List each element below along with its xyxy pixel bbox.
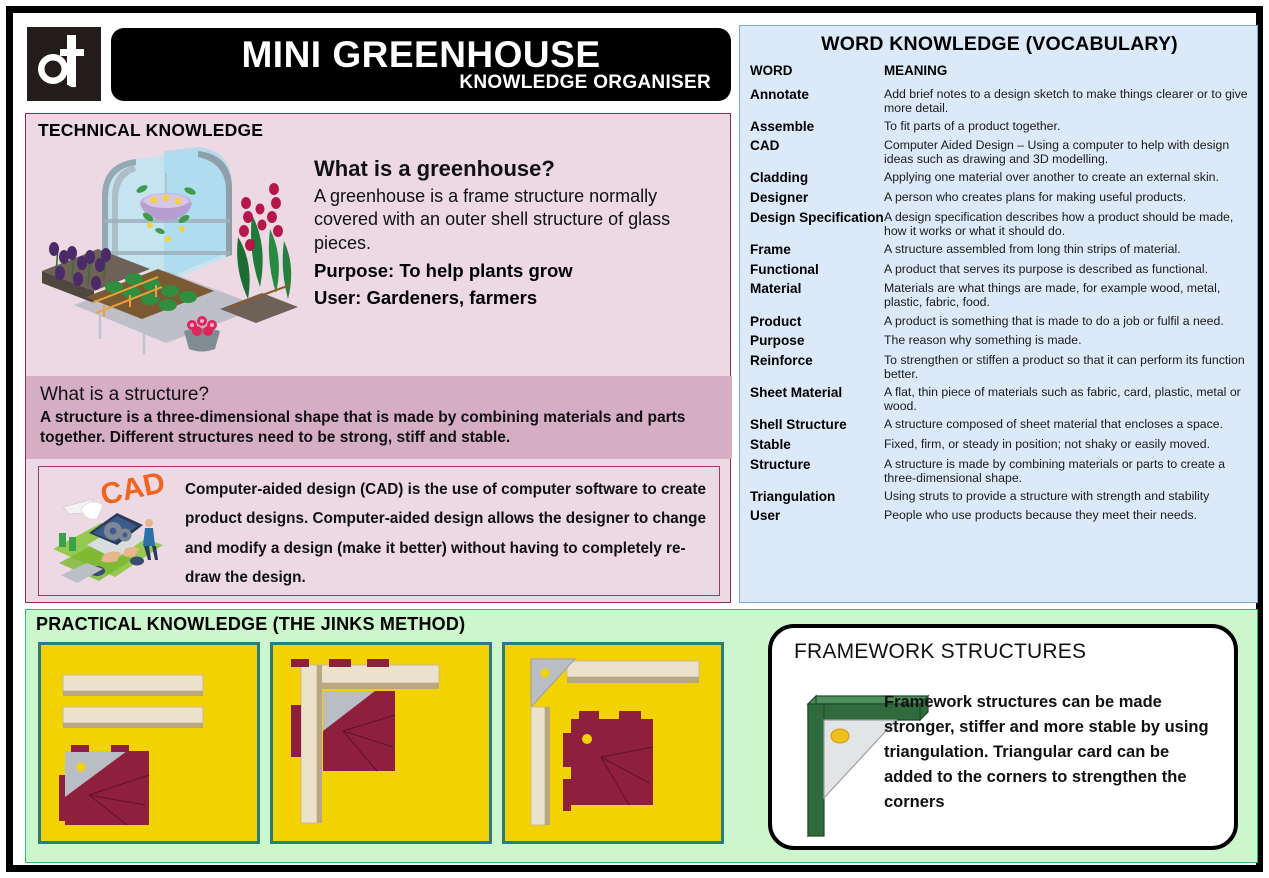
practical-knowledge-panel: PRACTICAL KNOWLEDGE (THE JINKS METHOD) [25, 609, 1258, 863]
greenhouse-user: User: Gardeners, farmers [314, 286, 720, 310]
table-row: TriangulationUsing struts to provide a s… [750, 487, 1249, 507]
table-row: FunctionalA product that serves its purp… [750, 260, 1249, 280]
vocab-meaning: A structure composed of sheet material t… [884, 415, 1249, 435]
structure-body: A structure is a three-dimensional shape… [40, 408, 718, 449]
technical-knowledge-panel: TECHNICAL KNOWLEDGE [25, 113, 731, 603]
vocab-meaning: Materials are what things are made, for … [884, 279, 1249, 311]
jinks-method-photos [38, 642, 724, 844]
structure-heading: What is a structure? [40, 383, 718, 407]
dt-logo [27, 27, 101, 101]
vocab-word: User [750, 506, 884, 526]
framework-structures-title: FRAMEWORK STRUCTURES [772, 628, 1234, 664]
table-row: Shell StructureA structure composed of s… [750, 415, 1249, 435]
vocab-word: CAD [750, 136, 884, 168]
vocab-word: Sheet Material [750, 383, 884, 415]
poster-frame: MINI GREENHOUSE KNOWLEDGE ORGANISER TECH… [6, 6, 1263, 872]
table-row: StableFixed, firm, or steady in position… [750, 435, 1249, 455]
cad-illustration: CAD [45, 471, 177, 591]
table-row: UserPeople who use products because they… [750, 506, 1249, 526]
vocab-word: Annotate [750, 85, 884, 117]
vocab-word: Design Specification [750, 208, 884, 240]
column-header-meaning: MEANING [884, 61, 1249, 85]
vocabulary-panel: WORD KNOWLEDGE (VOCABULARY) WORD MEANING… [739, 25, 1258, 603]
greenhouse-body: A greenhouse is a frame structure normal… [314, 185, 720, 256]
table-row: AssembleTo fit parts of a product togeth… [750, 117, 1249, 137]
vocabulary-header-row: WORD MEANING [750, 61, 1249, 85]
title-bar: MINI GREENHOUSE KNOWLEDGE ORGANISER [111, 28, 731, 101]
technical-knowledge-title: TECHNICAL KNOWLEDGE [26, 114, 730, 143]
vocab-meaning: Applying one material over another to cr… [884, 168, 1249, 188]
right-column: WORD KNOWLEDGE (VOCABULARY) WORD MEANING… [739, 25, 1258, 603]
table-row: Design SpecificationA design specificati… [750, 208, 1249, 240]
vocab-word: Functional [750, 260, 884, 280]
framework-structures-body: Framework structures can be made stronge… [884, 690, 1220, 815]
table-row: PurposeThe reason why something is made. [750, 331, 1249, 351]
greenhouse-block: What is a greenhouse? A greenhouse is a … [26, 143, 730, 361]
vocab-word: Purpose [750, 331, 884, 351]
structure-definition-box: What is a structure? A structure is a th… [26, 376, 732, 459]
vocab-meaning: People who use products because they mee… [884, 506, 1249, 526]
vocab-meaning: Fixed, firm, or steady in position; not … [884, 435, 1249, 455]
vocabulary-title: WORD KNOWLEDGE (VOCABULARY) [750, 30, 1249, 61]
table-row: MaterialMaterials are what things are ma… [750, 279, 1249, 311]
greenhouse-text: What is a greenhouse? A greenhouse is a … [314, 155, 720, 310]
vocab-meaning: A product is something that is made to d… [884, 312, 1249, 332]
vocab-word: Material [750, 279, 884, 311]
table-row: ProductA product is something that is ma… [750, 312, 1249, 332]
vocab-word: Cladding [750, 168, 884, 188]
vocab-meaning: Using struts to provide a structure with… [884, 487, 1249, 507]
vocab-meaning: To strengthen or stiffen a product so th… [884, 351, 1249, 383]
vocab-word: Product [750, 312, 884, 332]
vocab-word: Designer [750, 188, 884, 208]
vocab-meaning: Computer Aided Design – Using a computer… [884, 136, 1249, 168]
vocab-meaning: A person who creates plans for making us… [884, 188, 1249, 208]
vocab-meaning: A structure is made by combining materia… [884, 455, 1249, 487]
vocab-word: Shell Structure [750, 415, 884, 435]
vocab-meaning: A design specification describes how a p… [884, 208, 1249, 240]
table-row: FrameA structure assembled from long thi… [750, 240, 1249, 260]
table-row: CladdingApplying one material over anoth… [750, 168, 1249, 188]
vocab-word: Structure [750, 455, 884, 487]
column-header-word: WORD [750, 61, 884, 85]
greenhouse-illustration [34, 145, 302, 359]
table-row: DesignerA person who creates plans for m… [750, 188, 1249, 208]
left-column: MINI GREENHOUSE KNOWLEDGE ORGANISER TECH… [25, 25, 731, 603]
vocab-meaning: To fit parts of a product together. [884, 117, 1249, 137]
knowledge-organiser-poster: MINI GREENHOUSE KNOWLEDGE ORGANISER TECH… [0, 0, 1269, 878]
poster-title: MINI GREENHOUSE [127, 36, 715, 74]
cad-body: Computer-aided design (CAD) is the use o… [185, 475, 711, 592]
vocab-word: Frame [750, 240, 884, 260]
table-row: AnnotateAdd brief notes to a design sket… [750, 85, 1249, 117]
framework-structures-card: FRAMEWORK STRUCTURES Framework structure… [768, 624, 1238, 850]
table-row: Sheet MaterialA flat, thin piece of mate… [750, 383, 1249, 415]
greenhouse-purpose: Purpose: To help plants grow [314, 259, 720, 283]
poster-subtitle: KNOWLEDGE ORGANISER [127, 73, 715, 94]
top-section: MINI GREENHOUSE KNOWLEDGE ORGANISER TECH… [25, 25, 1258, 603]
table-row: StructureA structure is made by combinin… [750, 455, 1249, 487]
vocab-meaning: A structure assembled from long thin str… [884, 240, 1249, 260]
greenhouse-heading: What is a greenhouse? [314, 155, 720, 183]
vocab-word: Triangulation [750, 487, 884, 507]
jinks-photo-1 [38, 642, 260, 844]
poster-header: MINI GREENHOUSE KNOWLEDGE ORGANISER [25, 25, 731, 107]
vocab-word: Reinforce [750, 351, 884, 383]
jinks-photo-3 [502, 642, 724, 844]
vocab-meaning: A flat, thin piece of materials such as … [884, 383, 1249, 415]
vocab-meaning: Add brief notes to a design sketch to ma… [884, 85, 1249, 117]
vocab-word: Stable [750, 435, 884, 455]
vocab-word: Assemble [750, 117, 884, 137]
jinks-photo-2 [270, 642, 492, 844]
vocab-meaning: The reason why something is made. [884, 331, 1249, 351]
cad-box: CAD [38, 466, 720, 596]
table-row: CADComputer Aided Design – Using a compu… [750, 136, 1249, 168]
vocab-meaning: A product that serves its purpose is des… [884, 260, 1249, 280]
table-row: ReinforceTo strengthen or stiffen a prod… [750, 351, 1249, 383]
vocabulary-table: WORD MEANING AnnotateAdd brief notes to … [750, 61, 1249, 526]
